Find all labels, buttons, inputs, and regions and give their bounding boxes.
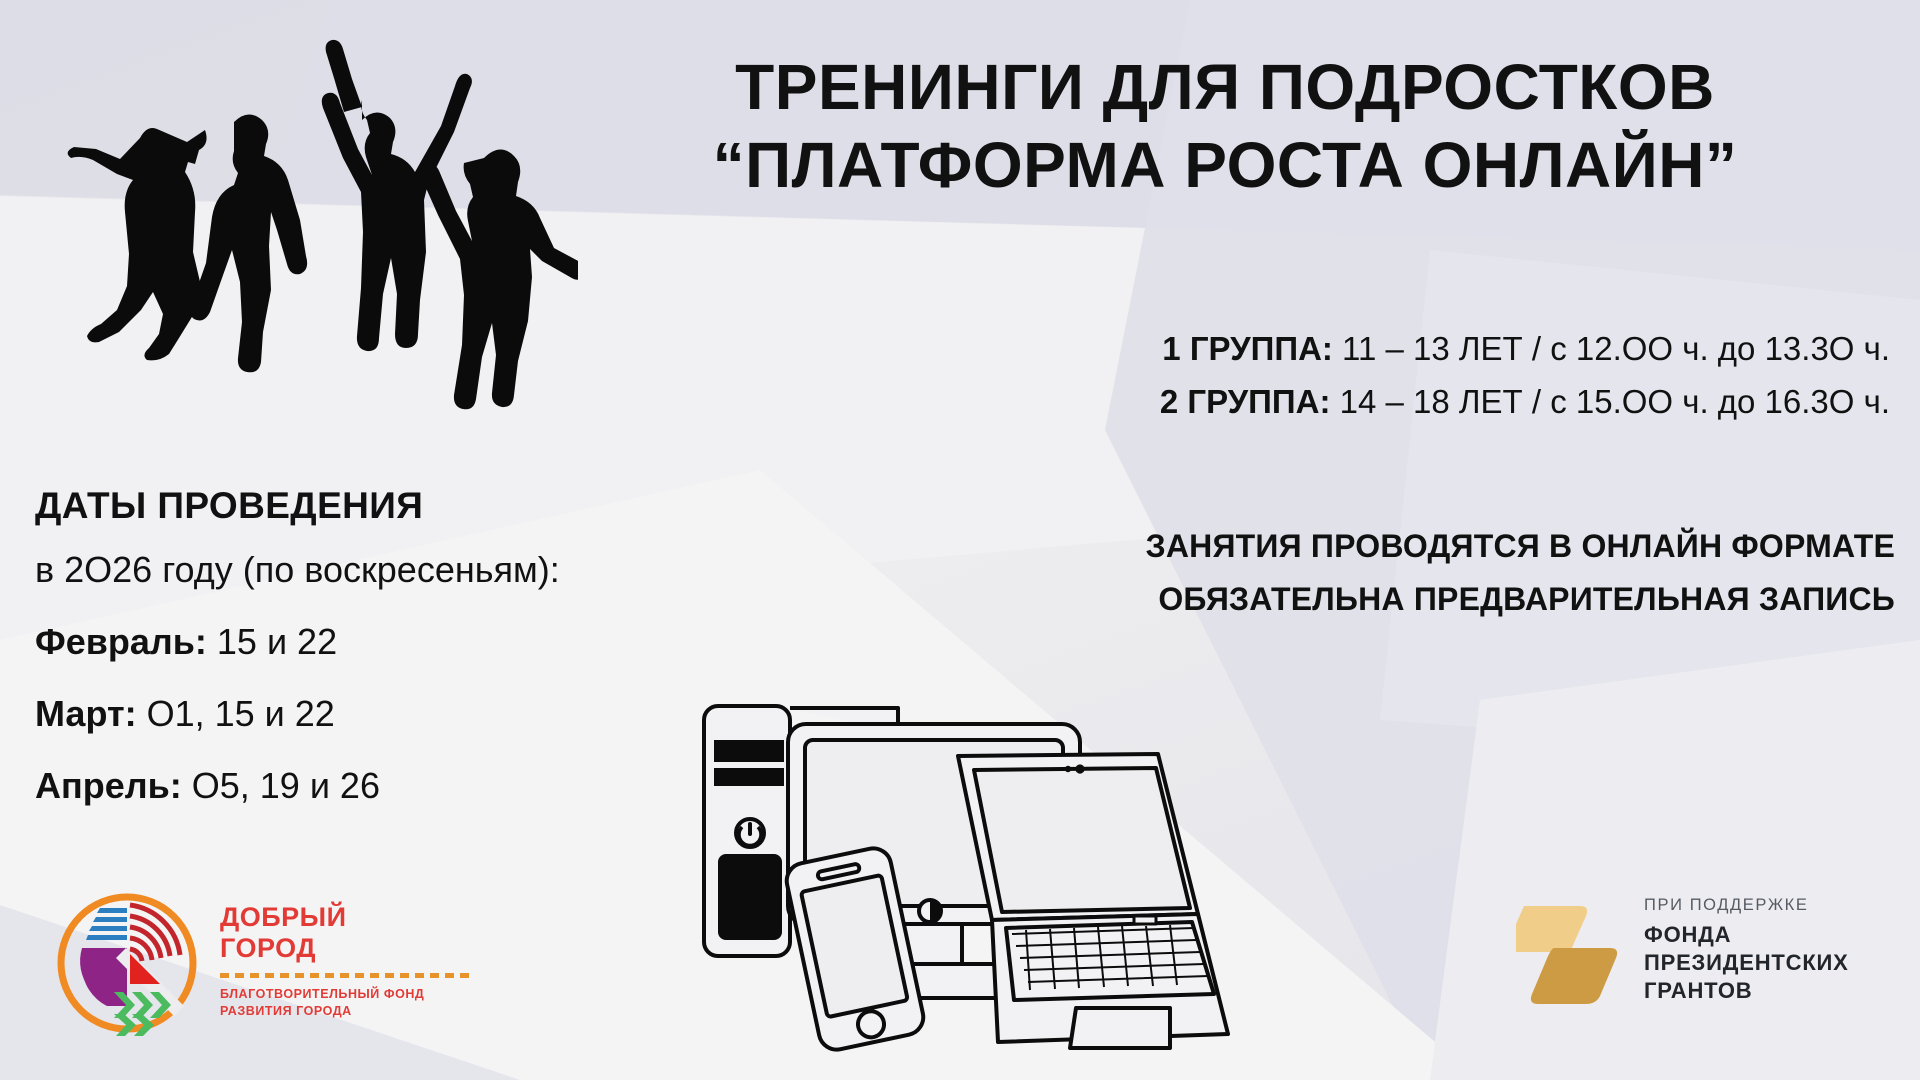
dates-subheading: в 2О26 году (по воскресеньям): <box>35 549 735 591</box>
poster-title: ТРЕНИНГИ ДЛЯ ПОДРОСТКОВ “ПЛАТФОРМА РОСТА… <box>560 52 1890 201</box>
month-days-february: 15 и 22 <box>207 621 337 662</box>
dobry-gorod-wordmark: ДОБРЫЙ ГОРОД БЛАГОТВОРИТЕЛЬНЫЙ ФОНД РАЗВ… <box>220 902 470 1021</box>
group-2-label: 2 ГРУППА: <box>1160 383 1331 420</box>
fpg-main-line2: ПРЕЗИДЕНТСКИХ <box>1644 949 1849 977</box>
poster-title-line2: “ПЛАТФОРМА РОСТА ОНЛАЙН” <box>560 130 1890 202</box>
poster-canvas: ТРЕНИНГИ ДЛЯ ПОДРОСТКОВ “ПЛАТФОРМА РОСТА… <box>0 0 1920 1080</box>
presidential-grants-emblem-icon <box>1516 892 1626 1012</box>
group-schedule-list: 1 ГРУППА: 11 – 13 ЛЕТ / с 12.ОО ч. до 13… <box>700 322 1890 429</box>
dg-sub-line1: БЛАГОТВОРИТЕЛЬНЫЙ ФОНД <box>220 986 470 1004</box>
dobry-gorod-emblem-icon <box>52 888 202 1038</box>
dobry-gorod-logo: ДОБРЫЙ ГОРОД БЛАГОТВОРИТЕЛЬНЫЙ ФОНД РАЗВ… <box>52 888 472 1033</box>
month-days-april: О5, 19 и 26 <box>182 765 380 806</box>
group-2-details: 14 – 18 ЛЕТ / с 15.ОО ч. до 16.3О ч. <box>1330 383 1890 420</box>
fpg-main-line3: ГРАНТОВ <box>1644 977 1849 1005</box>
month-label-february: Февраль: <box>35 621 207 662</box>
month-label-april: Апрель: <box>35 765 182 806</box>
devices-illustration <box>690 678 1230 1073</box>
dates-row-march: Март: О1, 15 и 22 <box>35 693 735 735</box>
dates-heading: ДАТЫ ПРОВЕДЕНИЯ <box>35 485 735 527</box>
month-days-march: О1, 15 и 22 <box>137 693 335 734</box>
fpg-main-line1: ФОНДА <box>1644 921 1849 949</box>
dg-dotted-divider <box>220 973 470 978</box>
fpg-top-line: ПРИ ПОДДЕРЖКЕ <box>1644 896 1849 915</box>
presidential-grants-logo: ПРИ ПОДДЕРЖКЕ ФОНДА ПРЕЗИДЕНТСКИХ ГРАНТО… <box>1516 892 1916 1042</box>
month-label-march: Март: <box>35 693 137 734</box>
presidential-grants-wordmark: ПРИ ПОДДЕРЖКЕ ФОНДА ПРЕЗИДЕНТСКИХ ГРАНТО… <box>1644 896 1849 1005</box>
group-1-label: 1 ГРУППА: <box>1162 330 1333 367</box>
notice-line-2: ОБЯЗАТЕЛЬНА ПРЕДВАРИТЕЛЬНАЯ ЗАПИСЬ <box>700 573 1895 626</box>
dg-name-line2: ГОРОД <box>220 933 470 964</box>
dates-row-april: Апрель: О5, 19 и 26 <box>35 765 735 807</box>
jumping-teens-silhouette-icon <box>18 18 578 418</box>
dg-sub-line2: РАЗВИТИЯ ГОРОДА <box>220 1003 470 1021</box>
dg-name-line1: ДОБРЫЙ <box>220 902 470 933</box>
group-1-details: 11 – 13 ЛЕТ / с 12.ОО ч. до 13.3О ч. <box>1333 330 1890 367</box>
dates-row-february: Февраль: 15 и 22 <box>35 621 735 663</box>
group-row-2: 2 ГРУППА: 14 – 18 ЛЕТ / с 15.ОО ч. до 16… <box>700 375 1890 428</box>
notice-line-1: ЗАНЯТИЯ ПРОВОДЯТСЯ В ОНЛАЙН ФОРМАТЕ <box>700 520 1895 573</box>
group-row-1: 1 ГРУППА: 11 – 13 ЛЕТ / с 12.ОО ч. до 13… <box>700 322 1890 375</box>
online-format-notice: ЗАНЯТИЯ ПРОВОДЯТСЯ В ОНЛАЙН ФОРМАТЕ ОБЯЗ… <box>700 520 1895 626</box>
dates-block: ДАТЫ ПРОВЕДЕНИЯ в 2О26 году (по воскресе… <box>35 485 735 807</box>
poster-title-line1: ТРЕНИНГИ ДЛЯ ПОДРОСТКОВ <box>735 51 1715 123</box>
